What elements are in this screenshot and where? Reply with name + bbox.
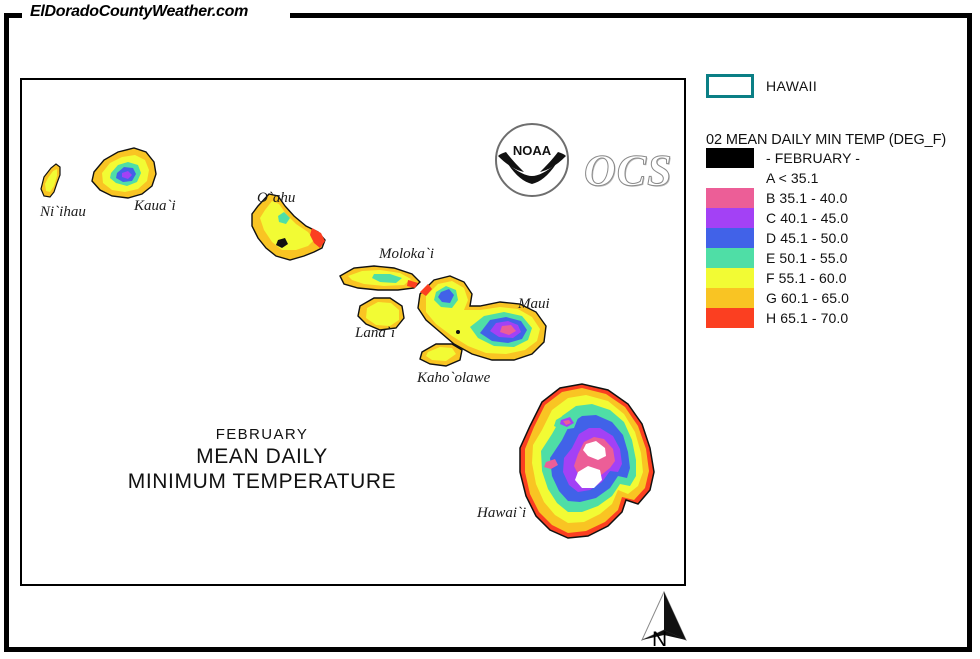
legend-row-d: D 45.1 - 50.0 <box>706 228 956 248</box>
island-kaua-i <box>92 148 156 198</box>
legend-row-f: F 55.1 - 60.0 <box>706 268 956 288</box>
legend-label-a: A < 35.1 <box>766 170 819 186</box>
legend-label-f: F 55.1 - 60.0 <box>766 270 847 286</box>
legend-panel: HAWAII 02 MEAN DAILY MIN TEMP (DEG_F) - … <box>706 72 956 328</box>
island-label-moloka-i: Moloka`i <box>379 246 434 263</box>
legend-area-key: HAWAII <box>706 72 956 100</box>
legend-label-d: D 45.1 - 50.0 <box>766 230 848 246</box>
island-label-maui: Maui <box>518 296 550 313</box>
map-title-line2: MINIMUM TEMPERATURE <box>97 469 427 494</box>
legend-swatch-b <box>706 188 754 208</box>
legend-subtitle: - FEBRUARY - <box>766 150 860 166</box>
legend-swatch-d <box>706 228 754 248</box>
island-label-o-ahu: O`ahu <box>257 190 295 207</box>
legend-label-b: B 35.1 - 40.0 <box>766 190 847 206</box>
legend-label-g: G 60.1 - 65.0 <box>766 290 849 306</box>
legend-area-label: HAWAII <box>766 78 817 94</box>
legend-swatch-f <box>706 268 754 288</box>
legend-label-e: E 50.1 - 55.0 <box>766 250 847 266</box>
island-label-hawai-i: Hawai`i <box>477 505 526 522</box>
legend-swatch-e <box>706 248 754 268</box>
island-moloka-i <box>340 266 420 290</box>
island-label-kaho-olawe: Kaho`olawe <box>417 370 490 387</box>
map-title-line1: MEAN DAILY <box>97 444 427 469</box>
island-ni-ihau <box>41 164 60 197</box>
legend-swatch-g <box>706 288 754 308</box>
legend-row-subtitle: - FEBRUARY - <box>706 148 956 168</box>
legend-row-a: A < 35.1 <box>706 168 956 188</box>
legend-label-h: H 65.1 - 70.0 <box>766 310 848 326</box>
legend-swatch-c <box>706 208 754 228</box>
noaa-logo-icon: NOAA <box>494 122 570 198</box>
noaa-logo-text: NOAA <box>513 143 552 158</box>
legend-row-b: B 35.1 - 40.0 <box>706 188 956 208</box>
legend-swatch-subtitle <box>706 148 754 168</box>
island-label-lana-i: Lana`i <box>355 325 395 342</box>
legend-row-g: G 60.1 - 65.0 <box>706 288 956 308</box>
ocs-logo-text: OCS <box>584 145 673 196</box>
legend-swatch-a <box>706 168 754 188</box>
legend-row-e: E 50.1 - 55.0 <box>706 248 956 268</box>
north-arrow-label: N <box>652 628 667 652</box>
island-label-ni-ihau: Ni`ihau <box>40 204 86 221</box>
island-kaho-olawe <box>420 344 462 366</box>
legend-area-swatch <box>706 74 754 98</box>
island-hawai-i <box>520 384 654 538</box>
island-label-kaua-i: Kaua`i <box>134 198 176 215</box>
legend-row-c: C 40.1 - 45.0 <box>706 208 956 228</box>
legend-title: 02 MEAN DAILY MIN TEMP (DEG_F) <box>706 132 956 148</box>
legend-row-h: H 65.1 - 70.0 <box>706 308 956 328</box>
map-title-block: FEBRUARY MEAN DAILY MINIMUM TEMPERATURE <box>97 425 427 494</box>
map-title-month: FEBRUARY <box>97 425 427 444</box>
legend-swatch-h <box>706 308 754 328</box>
site-title: ElDoradoCountyWeather.com <box>30 3 248 21</box>
map-frame[interactable]: Ni`ihau Kaua`i O`ahu Moloka`i Lana`i Kah… <box>20 78 686 586</box>
legend-label-c: C 40.1 - 45.0 <box>766 210 848 226</box>
